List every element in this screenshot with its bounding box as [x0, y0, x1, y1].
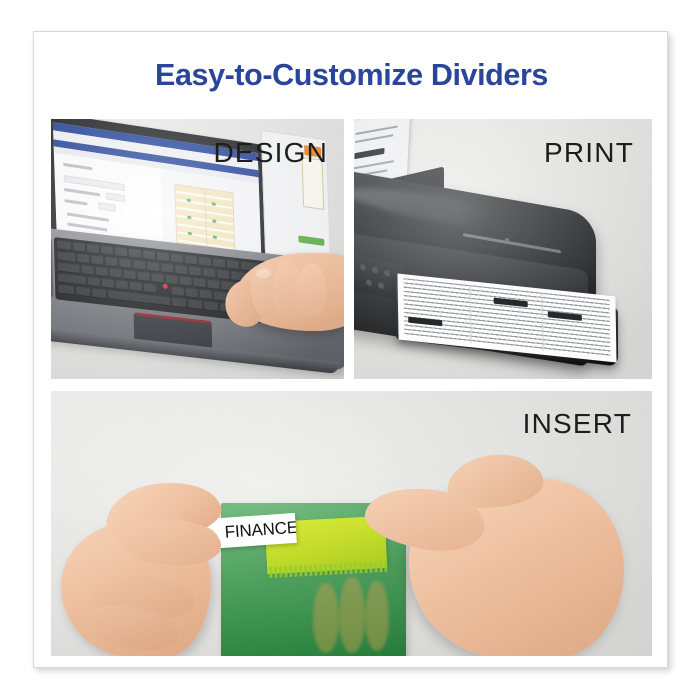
printer-lid-highlight — [354, 179, 550, 241]
panel-label-insert: INSERT — [523, 408, 632, 440]
right-hand — [351, 449, 631, 656]
panel-insert: FINANCE — [51, 391, 652, 656]
panel-print: PRINT — [354, 119, 652, 379]
product-feature-image: Easy-to-Customize Dividers — [0, 0, 700, 700]
page-title: Easy-to-Customize Dividers — [34, 58, 669, 93]
panel-label-print: PRINT — [544, 137, 634, 169]
laptop-speaker-left — [51, 238, 53, 297]
hand-on-keyboard — [195, 247, 344, 345]
left-hand — [61, 483, 251, 656]
product-card: Easy-to-Customize Dividers — [33, 31, 668, 668]
panel-label-design: DESIGN — [213, 137, 328, 169]
trackpoint-nub — [163, 283, 168, 289]
panel-design: DESIGN — [51, 119, 344, 379]
